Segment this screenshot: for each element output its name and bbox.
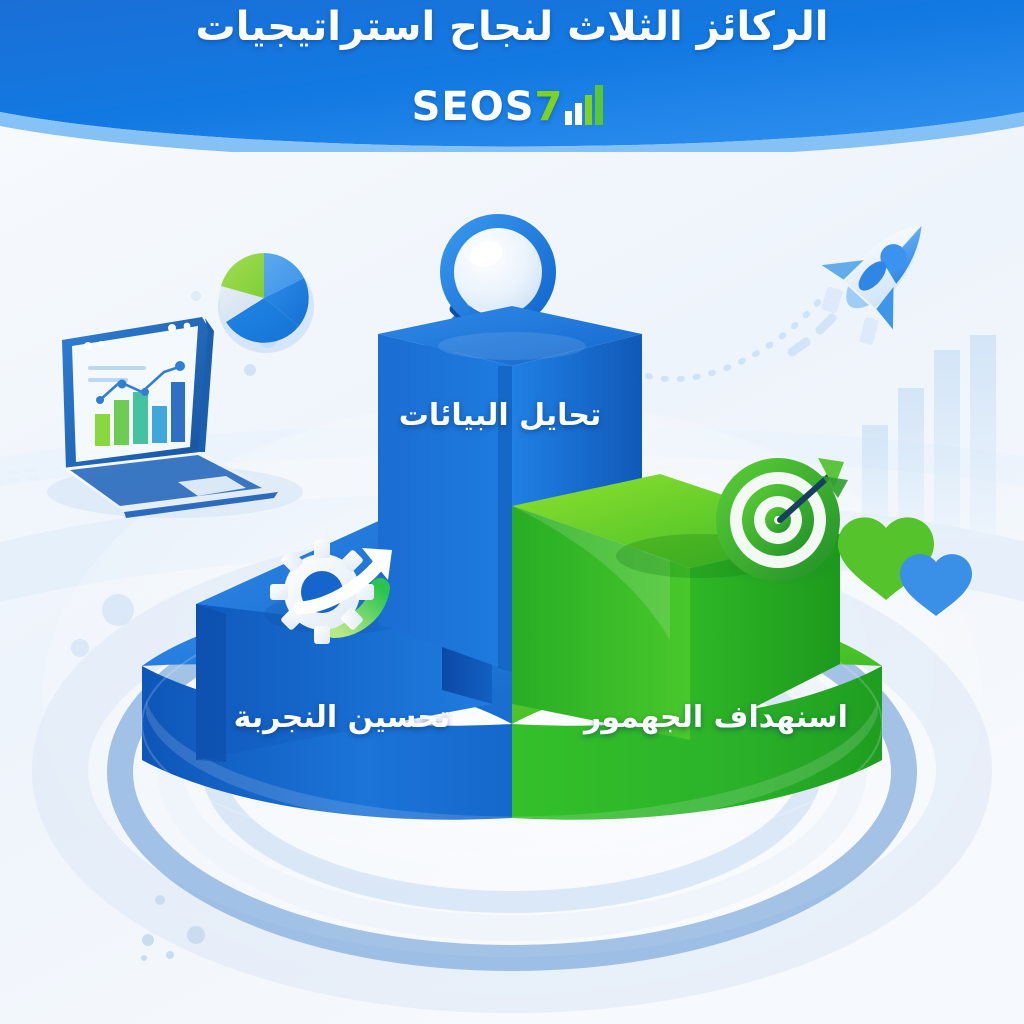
logo-seven: 7 (535, 84, 563, 130)
logo-text: SEOS (412, 84, 535, 130)
infographic-canvas: الركائز الثلاث لنجاح استراتيجيات SEOS7 ت… (0, 0, 1024, 1024)
podium-label-data-analysis: تحايل البيائات (362, 398, 638, 433)
page-title: الركائز الثلاث لنجاح استراتيجيات (0, 4, 1024, 50)
header-banner: الركائز الثلاث لنجاح استراتيجيات SEOS7 (0, 0, 1024, 152)
podium-label-experience: تحسين النجربة (196, 700, 488, 735)
brand-logo[interactable]: SEOS7 (0, 84, 1024, 130)
bar-chart-icon (564, 85, 612, 129)
background-decoration (0, 0, 1024, 1024)
podium-label-audience: اسنهداف الجهمور (556, 700, 876, 735)
